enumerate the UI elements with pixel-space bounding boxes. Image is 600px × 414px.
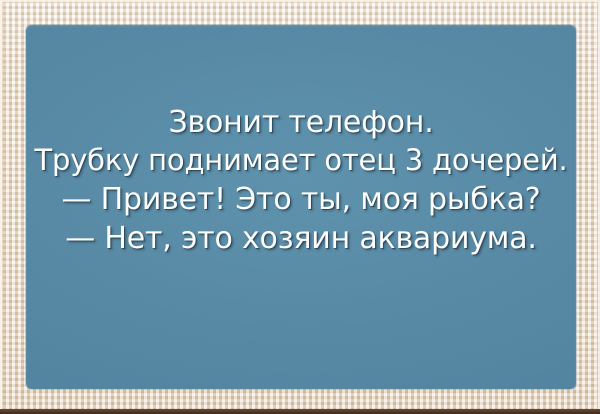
caption-line-3: — Привет! Это ты, моя рыбка?: [32, 180, 570, 219]
joke-image-card: Звонит телефон. Трубку поднимает отец 3 …: [0, 0, 600, 414]
caption-line-4: — Нет, это хозяин аквариума.: [32, 219, 570, 258]
caption-line-2: Трубку поднимает отец 3 дочерей.: [32, 142, 570, 180]
caption-line-1: Звонит телефон.: [32, 103, 570, 142]
blue-caption-panel: Звонит телефон. Трубку поднимает отец 3 …: [26, 25, 576, 389]
caption-text-block: Звонит телефон. Трубку поднимает отец 3 …: [26, 103, 576, 258]
frame-bottom-strip: [0, 409, 600, 414]
